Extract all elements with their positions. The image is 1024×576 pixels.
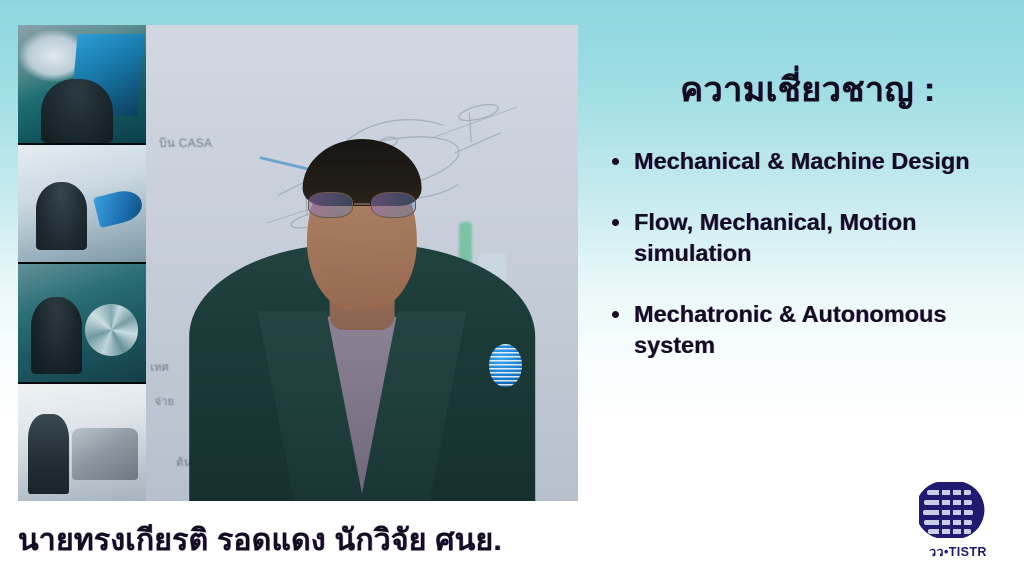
thumbnail-two-technicians-impeller xyxy=(18,264,146,384)
presentation-slide: บิน CASA คลำเลียงสารมนุ โขบิต-ทดได้ (พ.ศ… xyxy=(0,0,1024,576)
bullet-dot-icon xyxy=(612,158,619,165)
photo-composite: บิน CASA คลำเลียงสารมนุ โขบิต-ทดได้ (พ.ศ… xyxy=(18,25,578,501)
list-item-label: Mechatronic & Autonomous system xyxy=(634,301,946,358)
sleeve-tistr-globe-icon xyxy=(489,344,521,387)
thumbnail-technician-at-grinder xyxy=(18,384,146,502)
logo-label: วว•TISTR xyxy=(910,542,1006,562)
portrait-photo: บิน CASA คลำเลียงสารมนุ โขบิต-ทดได้ (พ.ศ… xyxy=(146,25,578,501)
expertise-panel: ความเชี่ยวชาญ : Mechanical & Machine Des… xyxy=(606,62,1010,361)
tistr-logo: วว•TISTR xyxy=(910,480,1006,562)
list-item-label: Flow, Mechanical, Motion simulation xyxy=(634,209,916,266)
page-title: ความเชี่ยวชาญ : xyxy=(606,62,1010,116)
person-figure xyxy=(146,25,578,501)
expertise-list: Mechanical & Machine Design Flow, Mechan… xyxy=(606,146,1010,361)
bullet-dot-icon xyxy=(612,311,619,318)
person-name-caption: นายทรงเกียรติ รอดแดง นักวิจัย ศนย. xyxy=(18,517,502,564)
thumbnail-strip xyxy=(18,25,146,501)
thumbnail-technician-at-blue-machine xyxy=(18,25,146,145)
list-item: Flow, Mechanical, Motion simulation xyxy=(606,207,1010,269)
list-item: Mechanical & Machine Design xyxy=(606,146,1010,177)
tistr-globe-icon xyxy=(919,480,997,540)
list-item-label: Mechanical & Machine Design xyxy=(634,148,970,174)
list-item: Mechatronic & Autonomous system xyxy=(606,299,1010,361)
eyeglasses-icon xyxy=(308,192,416,218)
thumbnail-technician-at-workbench xyxy=(18,145,146,265)
bullet-dot-icon xyxy=(612,219,619,226)
